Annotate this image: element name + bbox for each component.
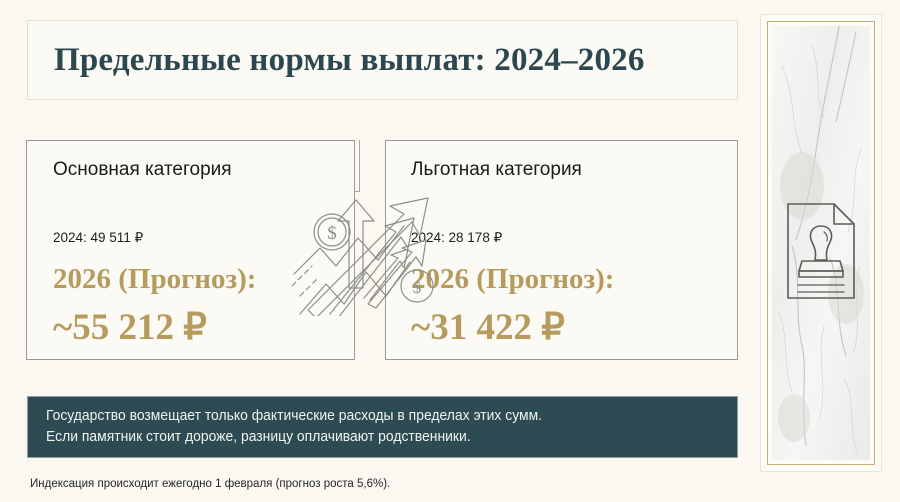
marble-side-panel [760, 14, 882, 472]
page-title: Предельные нормы выплат: 2024–2026 [54, 42, 645, 79]
info-banner: Государство возмещает только фактические… [27, 396, 738, 458]
card-forecast-value-basic: ~55 212 ₽ [53, 309, 207, 346]
document-stamp-icon [782, 200, 860, 302]
banner-line-2: Если памятник стоит дороже, разницу опла… [46, 427, 709, 448]
svg-text:$: $ [413, 278, 422, 297]
svg-text:$: $ [327, 223, 337, 244]
footnote: Индексация происходит ежегодно 1 февраля… [30, 478, 390, 490]
card-current-value-basic: 2024: 49 511 ₽ [53, 230, 143, 246]
card-title-basic: Основная категория [53, 159, 232, 181]
banner-line-1: Государство возмещает только фактические… [46, 406, 709, 427]
title-box: Предельные нормы выплат: 2024–2026 [27, 20, 738, 100]
infographic-slide: Предельные нормы выплат: 2024–2026 Основ… [0, 0, 900, 502]
card-forecast-label-basic: 2026 (Прогноз): [53, 265, 256, 294]
growth-arrows-coins-icon: $ $ [286, 176, 461, 316]
